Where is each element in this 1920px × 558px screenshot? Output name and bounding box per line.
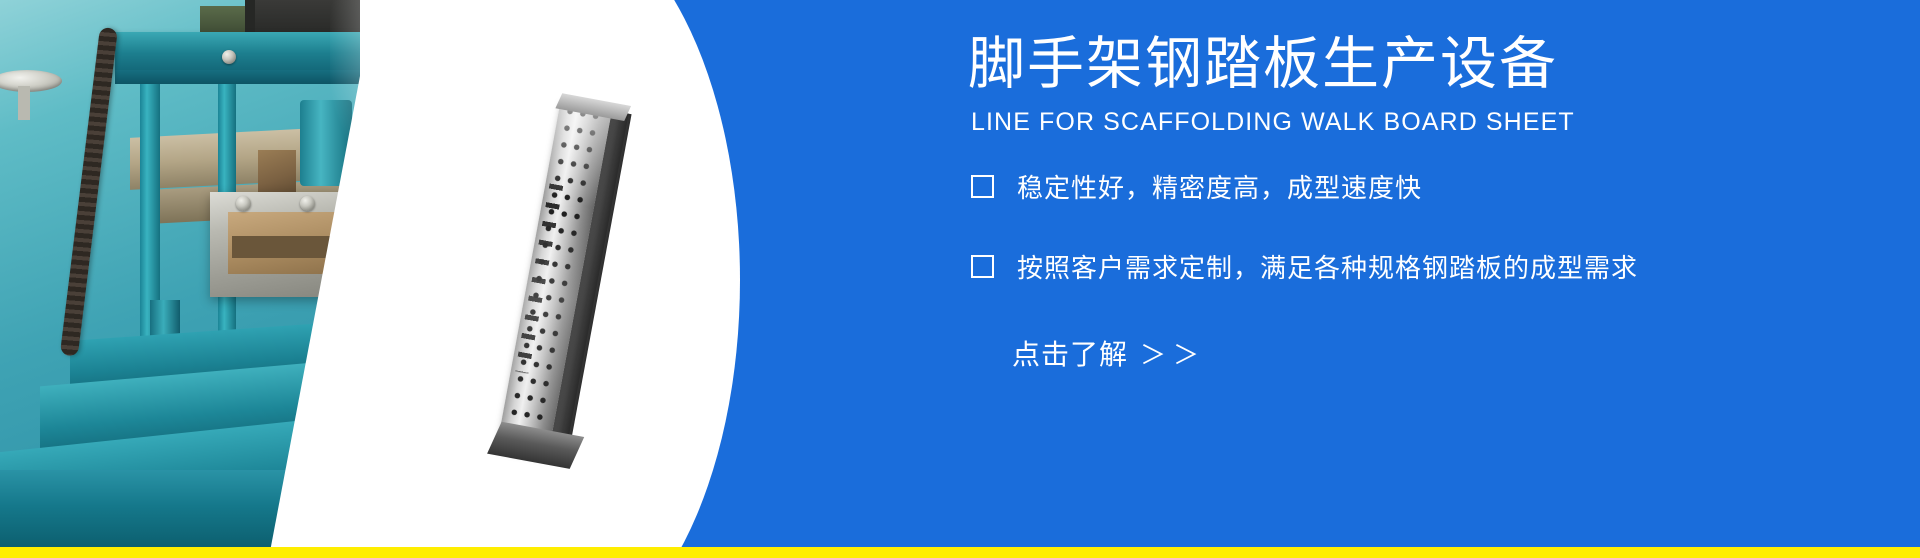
- feature-item: 按照客户需求定制，满足各种规格钢踏板的成型需求: [971, 248, 1871, 285]
- banner-subtitle: LINE FOR SCAFFOLDING WALK BOARD SHEET: [971, 108, 1575, 137]
- feature-list: 稳定性好，精密度高，成型速度快 按照客户需求定制，满足各种规格钢踏板的成型需求: [971, 168, 1871, 328]
- square-bullet-icon: [971, 255, 994, 278]
- banner-title: 脚手架钢踏板生产设备: [968, 33, 1558, 97]
- chevron-right-icon: ＞＞: [1140, 340, 1206, 370]
- feature-text: 按照客户需求定制，满足各种规格钢踏板的成型需求: [1017, 248, 1638, 285]
- product-banner: 脚手架钢踏板生产设备 LINE FOR SCAFFOLDING WALK BOA…: [0, 0, 1920, 558]
- learn-more-label: 点击了解: [1012, 339, 1128, 370]
- feature-item: 稳定性好，精密度高，成型速度快: [971, 168, 1871, 205]
- feature-text: 稳定性好，精密度高，成型速度快: [1017, 168, 1422, 205]
- product-photo: [500, 118, 710, 448]
- square-bullet-icon: [971, 175, 994, 198]
- banner-content: 脚手架钢踏板生产设备 LINE FOR SCAFFOLDING WALK BOA…: [968, 0, 1920, 547]
- bottom-accent-strip: [0, 547, 1920, 558]
- learn-more-link[interactable]: 点击了解＞＞: [1012, 333, 1206, 373]
